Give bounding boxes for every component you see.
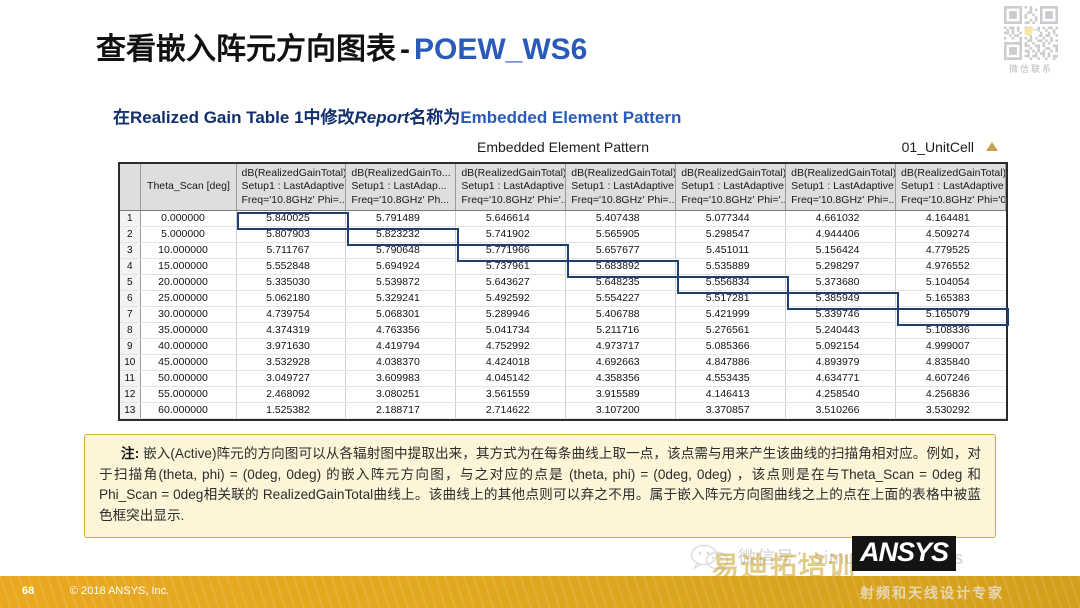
cell-gain[interactable]: 3.510266 <box>786 403 896 419</box>
cell-gain[interactable]: 5.791489 <box>346 211 456 227</box>
row-number[interactable]: 5 <box>120 275 140 291</box>
table-row[interactable]: 625.0000005.0621805.3292415.4925925.5542… <box>120 291 1006 307</box>
cell-gain[interactable]: 4.424018 <box>456 355 566 371</box>
cell-gain[interactable]: 5.565905 <box>566 227 676 243</box>
cell-gain[interactable]: 5.077344 <box>676 211 786 227</box>
cell-gain[interactable]: 5.092154 <box>786 339 896 355</box>
row-number[interactable]: 2 <box>120 227 140 243</box>
table-row[interactable]: 940.0000003.9716304.4197944.7529924.9737… <box>120 339 1006 355</box>
cell-theta-scan[interactable]: 60.000000 <box>140 403 236 419</box>
table-row[interactable]: 25.0000005.8079035.8232325.7419025.56590… <box>120 227 1006 243</box>
column-header-theta-scan[interactable]: Theta_Scan [deg] <box>140 164 236 211</box>
col7-line1: dB(RealizedGainTotal) <box>901 167 1005 179</box>
col6-line3: Freq='10.8GHz' Phi=... <box>791 194 895 206</box>
cell-gain[interactable]: 3.530292 <box>896 403 1006 419</box>
cell-gain[interactable]: 5.451011 <box>676 243 786 259</box>
col1-line1: dB(RealizedGainTotal) <box>242 167 346 179</box>
cell-gain[interactable]: 5.407438 <box>566 211 676 227</box>
cell-gain[interactable]: 5.790648 <box>346 243 456 259</box>
row-number[interactable]: 9 <box>120 339 140 355</box>
cell-gain[interactable]: 5.335030 <box>236 275 346 291</box>
col4-line2: Setup1 : LastAdaptive <box>571 180 674 192</box>
column-header-gain-7[interactable]: dB(RealizedGainTotal) Setup1 : LastAdapt… <box>896 164 1006 211</box>
cell-theta-scan[interactable]: 35.000000 <box>140 323 236 339</box>
cell-gain[interactable]: 5.539872 <box>346 275 456 291</box>
cell-gain[interactable]: 4.779525 <box>896 243 1006 259</box>
cell-gain[interactable]: 5.298297 <box>786 259 896 275</box>
cell-gain[interactable]: 4.358356 <box>566 371 676 387</box>
col6-line1: dB(RealizedGainTotal) <box>791 167 895 179</box>
col7-line3: Freq='10.8GHz' Phi='0deg' The... <box>901 194 1005 206</box>
qr-caption: 微信联系 <box>1000 62 1062 75</box>
cell-gain[interactable]: 5.694924 <box>346 259 456 275</box>
cell-gain[interactable]: 4.607246 <box>896 371 1006 387</box>
cell-gain[interactable]: 5.840025 <box>236 211 346 227</box>
table-body: 10.0000005.8400255.7914895.6466145.40743… <box>120 211 1006 419</box>
cell-gain[interactable]: 5.807903 <box>236 227 346 243</box>
subtitle-part-d: 名称为 <box>409 108 460 127</box>
cell-gain[interactable]: 5.165383 <box>896 291 1006 307</box>
column-header-gain-5[interactable]: dB(RealizedGainTotal) Setup1 : LastAdapt… <box>676 164 786 211</box>
table-row[interactable]: 415.0000005.5528485.6949245.7379615.6838… <box>120 259 1006 275</box>
footer-tagline: 射频和天线设计专家 <box>860 583 1004 603</box>
table-row[interactable]: 310.0000005.7117675.7906485.7719665.6576… <box>120 243 1006 259</box>
table-caption-row: Embedded Element Pattern 01_UnitCell <box>118 138 1008 162</box>
cell-gain[interactable]: 5.556834 <box>676 275 786 291</box>
cell-gain[interactable]: 5.289946 <box>456 307 566 323</box>
subtitle-part-a: 在 <box>113 108 130 127</box>
cell-gain[interactable]: 4.752992 <box>456 339 566 355</box>
row-number[interactable]: 12 <box>120 387 140 403</box>
row-number[interactable]: 6 <box>120 291 140 307</box>
design-name-label: 01_UnitCell <box>902 139 974 155</box>
cell-gain[interactable]: 4.739754 <box>236 307 346 323</box>
cell-gain[interactable]: 4.973717 <box>566 339 676 355</box>
cell-theta-scan[interactable]: 15.000000 <box>140 259 236 275</box>
cell-gain[interactable]: 5.492592 <box>456 291 566 307</box>
cell-gain[interactable]: 3.107200 <box>566 403 676 419</box>
cell-gain[interactable]: 5.276561 <box>676 323 786 339</box>
col2-line2: Setup1 : LastAdap... <box>351 180 446 192</box>
cell-gain[interactable]: 4.835840 <box>896 355 1006 371</box>
col1-line2: Setup1 : LastAdaptive <box>242 180 345 192</box>
column-header-gain-2[interactable]: dB(RealizedGainTo... Setup1 : LastAdap..… <box>346 164 456 211</box>
ansys-brand-watermark: ANSYS <box>852 536 956 571</box>
row-number[interactable]: 10 <box>120 355 140 371</box>
cell-theta-scan[interactable]: 45.000000 <box>140 355 236 371</box>
col4-line1: dB(RealizedGainTotal) <box>571 167 675 179</box>
results-table-panel: Embedded Element Pattern 01_UnitCell The… <box>118 138 1008 421</box>
cell-gain[interactable]: 3.609983 <box>346 371 456 387</box>
table-row[interactable]: 1360.0000001.5253822.1887172.7146223.107… <box>120 403 1006 419</box>
cell-gain[interactable]: 4.374319 <box>236 323 346 339</box>
cell-gain[interactable]: 5.104054 <box>896 275 1006 291</box>
table-title: Embedded Element Pattern <box>477 139 649 155</box>
cell-gain[interactable]: 3.370857 <box>676 403 786 419</box>
cell-gain[interactable]: 5.165079 <box>896 307 1006 323</box>
cell-gain[interactable]: 4.164481 <box>896 211 1006 227</box>
cell-gain[interactable]: 5.041734 <box>456 323 566 339</box>
footer-bar: 68 © 2018 ANSYS, Inc. 射频和天线设计专家 <box>0 576 1080 608</box>
cell-gain[interactable]: 4.944406 <box>786 227 896 243</box>
cell-theta-scan[interactable]: 40.000000 <box>140 339 236 355</box>
cell-theta-scan[interactable]: 20.000000 <box>140 275 236 291</box>
qr-code-icon <box>1004 6 1058 60</box>
cell-gain[interactable]: 2.468092 <box>236 387 346 403</box>
cell-gain[interactable]: 4.045142 <box>456 371 566 387</box>
cell-gain[interactable]: 3.532928 <box>236 355 346 371</box>
column-header-rownum[interactable] <box>120 164 140 211</box>
cell-gain[interactable]: 5.062180 <box>236 291 346 307</box>
data-grid[interactable]: Theta_Scan [deg] dB(RealizedGainTotal) S… <box>118 162 1008 421</box>
cell-gain[interactable]: 3.915589 <box>566 387 676 403</box>
cell-gain[interactable]: 5.552848 <box>236 259 346 275</box>
cell-gain[interactable]: 2.714622 <box>456 403 566 419</box>
cell-gain[interactable]: 5.554227 <box>566 291 676 307</box>
table-row[interactable]: 520.0000005.3350305.5398725.6436275.6482… <box>120 275 1006 291</box>
column-header-gain-3[interactable]: dB(RealizedGainTotal) Setup1 : LastAdapt… <box>456 164 566 211</box>
cell-gain[interactable]: 5.535889 <box>676 259 786 275</box>
copyright-text: © 2018 ANSYS, Inc. <box>70 585 169 597</box>
cell-gain[interactable]: 5.517281 <box>676 291 786 307</box>
results-table: Theta_Scan [deg] dB(RealizedGainTotal) S… <box>120 164 1006 419</box>
cell-gain[interactable]: 4.976552 <box>896 259 1006 275</box>
col7-line2: Setup1 : LastAdaptive <box>901 180 1004 192</box>
row-number[interactable]: 7 <box>120 307 140 323</box>
cell-gain[interactable]: 5.339746 <box>786 307 896 323</box>
column-header-theta-scan-label: Theta_Scan [deg] <box>147 180 230 192</box>
row-number[interactable]: 13 <box>120 403 140 419</box>
cell-gain[interactable]: 5.421999 <box>676 307 786 323</box>
col3-line1: dB(RealizedGainTotal) <box>461 167 565 179</box>
cell-gain[interactable]: 4.634771 <box>786 371 896 387</box>
cell-gain[interactable]: 5.711767 <box>236 243 346 259</box>
column-header-gain-4[interactable]: dB(RealizedGainTotal) Setup1 : LastAdapt… <box>566 164 676 211</box>
col5-line1: dB(RealizedGainTotal) <box>681 167 785 179</box>
cell-gain[interactable]: 5.068301 <box>346 307 456 323</box>
subtitle-report-name: Realized Gain Table 1 <box>130 108 304 127</box>
cell-gain[interactable]: 4.509274 <box>896 227 1006 243</box>
cell-gain[interactable]: 5.240443 <box>786 323 896 339</box>
cell-gain[interactable]: 5.406788 <box>566 307 676 323</box>
cell-gain[interactable]: 5.373680 <box>786 275 896 291</box>
cell-gain[interactable]: 5.683892 <box>566 259 676 275</box>
row-number[interactable]: 4 <box>120 259 140 275</box>
cell-gain[interactable]: 4.256836 <box>896 387 1006 403</box>
table-row[interactable]: 835.0000004.3743194.7633565.0417345.2117… <box>120 323 1006 339</box>
table-row[interactable]: 1150.0000003.0497273.6099834.0451424.358… <box>120 371 1006 387</box>
column-header-gain-1[interactable]: dB(RealizedGainTotal) Setup1 : LastAdapt… <box>236 164 346 211</box>
cell-theta-scan[interactable]: 0.000000 <box>140 211 236 227</box>
cell-gain[interactable]: 1.525382 <box>236 403 346 419</box>
cell-gain[interactable]: 4.146413 <box>676 387 786 403</box>
cell-gain[interactable]: 3.049727 <box>236 371 346 387</box>
row-number[interactable]: 1 <box>120 211 140 227</box>
cell-theta-scan[interactable]: 50.000000 <box>140 371 236 387</box>
cell-gain[interactable]: 5.646614 <box>456 211 566 227</box>
subtitle-part-c: 中修改 <box>304 108 355 127</box>
cell-gain[interactable]: 4.847886 <box>676 355 786 371</box>
cell-gain[interactable]: 5.329241 <box>346 291 456 307</box>
col5-line3: Freq='10.8GHz' Phi='... <box>681 194 785 206</box>
page-title-dash: - <box>396 33 414 66</box>
cell-theta-scan[interactable]: 25.000000 <box>140 291 236 307</box>
table-row[interactable]: 1255.0000002.4680923.0802513.5615593.915… <box>120 387 1006 403</box>
cell-gain[interactable]: 4.893979 <box>786 355 896 371</box>
col3-line3: Freq='10.8GHz' Phi='... <box>461 194 565 206</box>
subtitle-accent: Embedded Element Pattern <box>460 108 681 127</box>
cell-gain[interactable]: 4.553435 <box>676 371 786 387</box>
cell-gain[interactable]: 5.823232 <box>346 227 456 243</box>
col1-line3: Freq='10.8GHz' Phi=... <box>242 194 346 206</box>
cell-gain[interactable]: 5.657677 <box>566 243 676 259</box>
table-row[interactable]: 10.0000005.8400255.7914895.6466145.40743… <box>120 211 1006 227</box>
page-title-accent: POEW_WS6 <box>414 33 587 66</box>
subtitle-emphasis: Report <box>355 108 410 127</box>
col4-line3: Freq='10.8GHz' Phi=... <box>571 194 675 206</box>
cell-theta-scan[interactable]: 55.000000 <box>140 387 236 403</box>
cell-gain[interactable]: 3.080251 <box>346 387 456 403</box>
subtitle: 在Realized Gain Table 1中修改Report名称为Embedd… <box>113 103 681 128</box>
cell-theta-scan[interactable]: 5.000000 <box>140 227 236 243</box>
sort-ascending-arrow-icon[interactable] <box>986 142 998 151</box>
cell-gain[interactable]: 5.211716 <box>566 323 676 339</box>
cell-gain[interactable]: 4.692663 <box>566 355 676 371</box>
cell-gain[interactable]: 4.258540 <box>786 387 896 403</box>
page-title-main: 查看嵌入阵元方向图表 <box>96 33 396 66</box>
table-row[interactable]: 730.0000004.7397545.0683015.2899465.4067… <box>120 307 1006 323</box>
cell-gain[interactable]: 2.188717 <box>346 403 456 419</box>
cell-gain[interactable]: 4.999007 <box>896 339 1006 355</box>
note-callout: 注: 嵌入(Active)阵元的方向图可以从各辐射图中提取出来，其方式为在每条曲… <box>84 434 996 538</box>
col6-line2: Setup1 : LastAdaptive <box>791 180 894 192</box>
cell-gain[interactable]: 4.419794 <box>346 339 456 355</box>
table-row[interactable]: 1045.0000003.5329284.0383704.4240184.692… <box>120 355 1006 371</box>
cell-gain[interactable]: 5.298547 <box>676 227 786 243</box>
cell-gain[interactable]: 5.085366 <box>676 339 786 355</box>
page-title: 查看嵌入阵元方向图表-POEW_WS6 <box>96 24 587 68</box>
wechat-qr-block: 微信联系 <box>1000 6 1062 75</box>
cell-gain[interactable]: 5.648235 <box>566 275 676 291</box>
cell-gain[interactable]: 5.108336 <box>896 323 1006 339</box>
table-header-row: Theta_Scan [deg] dB(RealizedGainTotal) S… <box>120 164 1006 211</box>
cell-gain[interactable]: 4.763356 <box>346 323 456 339</box>
col2-line1: dB(RealizedGainTo... <box>351 167 450 179</box>
col2-line3: Freq='10.8GHz' Ph... <box>351 194 449 206</box>
cell-gain[interactable]: 5.741902 <box>456 227 566 243</box>
cell-gain[interactable]: 5.737961 <box>456 259 566 275</box>
col5-line2: Setup1 : LastAdaptive <box>681 180 784 192</box>
cell-gain[interactable]: 4.038370 <box>346 355 456 371</box>
row-number[interactable]: 8 <box>120 323 140 339</box>
page-number: 68 <box>22 585 34 597</box>
cell-gain[interactable]: 5.385949 <box>786 291 896 307</box>
note-text: 嵌入(Active)阵元的方向图可以从各辐射图中提取出来，其方式为在每条曲线上取… <box>99 446 981 523</box>
cell-gain[interactable]: 5.643627 <box>456 275 566 291</box>
col3-line2: Setup1 : LastAdaptive <box>461 180 564 192</box>
cell-gain[interactable]: 3.561559 <box>456 387 566 403</box>
cell-gain[interactable]: 5.771966 <box>456 243 566 259</box>
row-number[interactable]: 3 <box>120 243 140 259</box>
note-lead: 注: <box>121 446 139 461</box>
cell-gain[interactable]: 3.971630 <box>236 339 346 355</box>
cell-gain[interactable]: 5.156424 <box>786 243 896 259</box>
row-number[interactable]: 11 <box>120 371 140 387</box>
column-header-gain-6[interactable]: dB(RealizedGainTotal) Setup1 : LastAdapt… <box>786 164 896 211</box>
cell-theta-scan[interactable]: 10.000000 <box>140 243 236 259</box>
cell-theta-scan[interactable]: 30.000000 <box>140 307 236 323</box>
cell-gain[interactable]: 4.661032 <box>786 211 896 227</box>
